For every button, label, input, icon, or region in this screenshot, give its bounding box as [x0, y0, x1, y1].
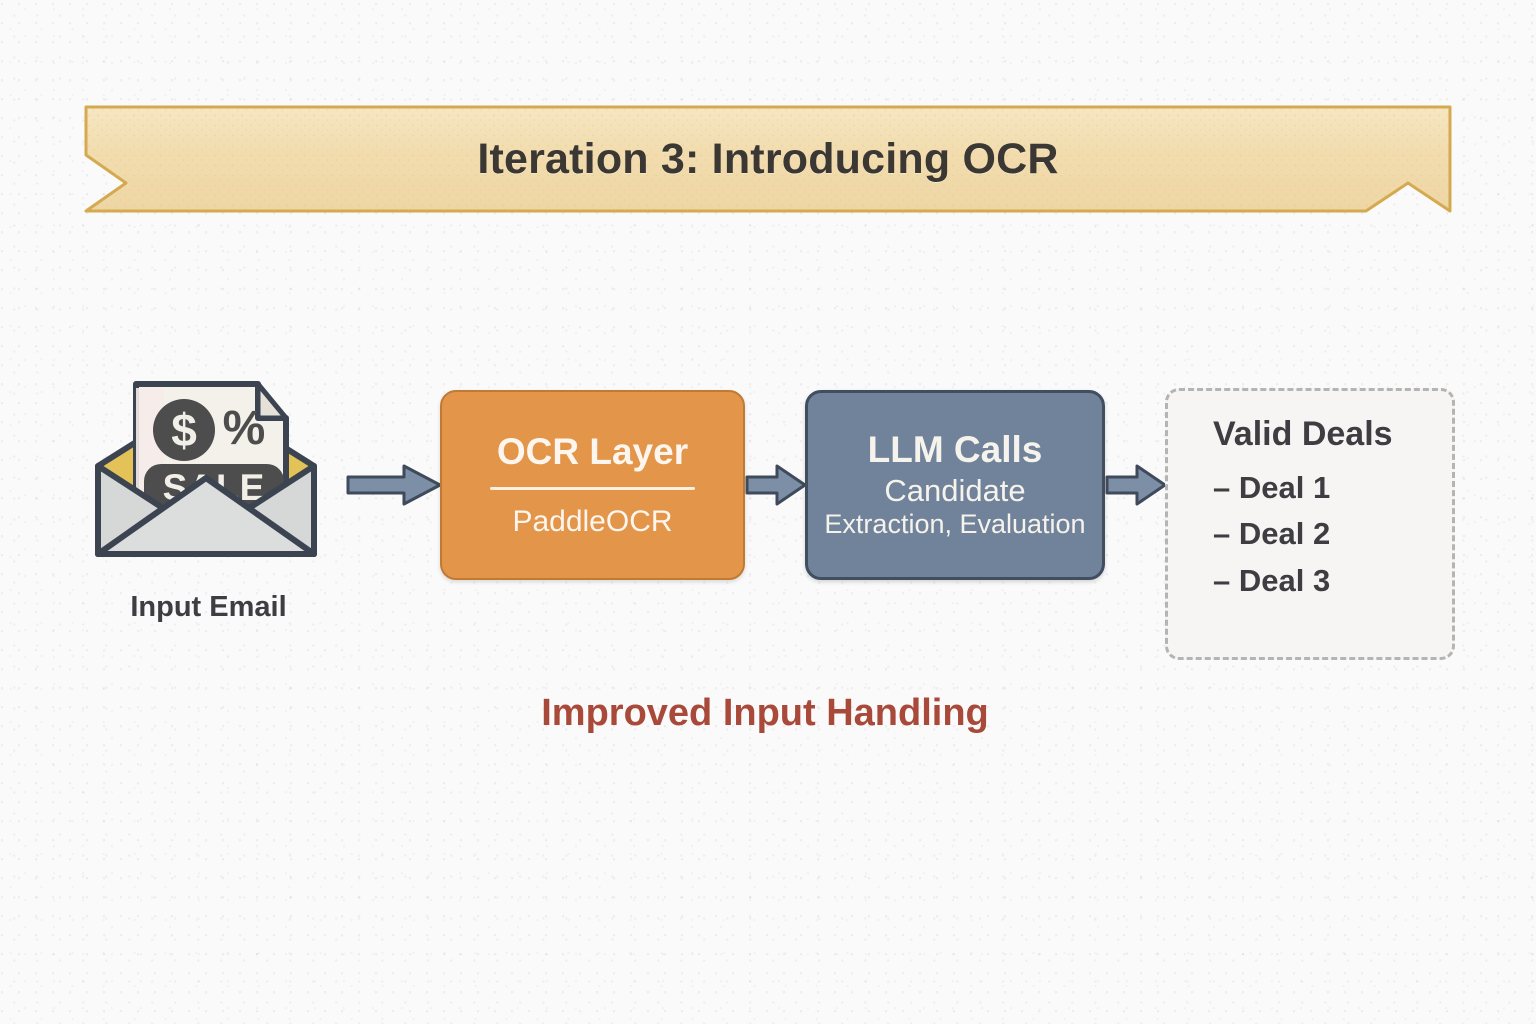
llm-calls-line2: Candidate — [884, 473, 1025, 509]
ocr-layer-box[interactable]: OCR Layer PaddleOCR — [440, 390, 745, 580]
list-item: – Deal 3 — [1213, 558, 1452, 605]
arrow-llm-to-output — [1105, 462, 1167, 508]
llm-calls-title: LLM Calls — [868, 430, 1043, 471]
valid-deals-title: Valid Deals — [1213, 417, 1452, 453]
caption-wrapper: Improved Input Handling — [380, 692, 1150, 735]
input-email-node: $ % SALE Input Email — [86, 378, 346, 643]
right-arrow-icon — [346, 462, 442, 508]
percent-symbol: % — [223, 402, 266, 455]
valid-deals-box[interactable]: Valid Deals – Deal 1 – Deal 2 – Deal 3 — [1165, 388, 1455, 660]
dollar-symbol: $ — [171, 404, 197, 456]
right-arrow-icon — [1105, 462, 1167, 508]
llm-calls-box[interactable]: LLM Calls Candidate Extraction, Evaluati… — [805, 390, 1105, 580]
arrow-ocr-to-llm — [745, 462, 807, 508]
page-title: Iteration 3: Introducing OCR — [78, 103, 1458, 215]
llm-calls-line3: Extraction, Evaluation — [824, 509, 1085, 540]
input-email-label: Input Email — [86, 591, 331, 624]
ocr-layer-subtitle: PaddleOCR — [512, 506, 672, 538]
ocr-layer-title: OCR Layer — [497, 433, 688, 472]
list-item: – Deal 2 — [1213, 511, 1452, 558]
ocr-divider-line — [490, 487, 695, 490]
title-banner: Iteration 3: Introducing OCR — [78, 103, 1458, 215]
arrow-input-to-ocr — [346, 462, 442, 508]
open-envelope-icon: $ % SALE — [86, 378, 331, 583]
diagram-caption: Improved Input Handling — [541, 692, 989, 734]
right-arrow-icon — [745, 462, 807, 508]
list-item: – Deal 1 — [1213, 465, 1452, 512]
diagram-stage: Iteration 3: Introducing OCR $ % SALE — [0, 0, 1536, 1024]
